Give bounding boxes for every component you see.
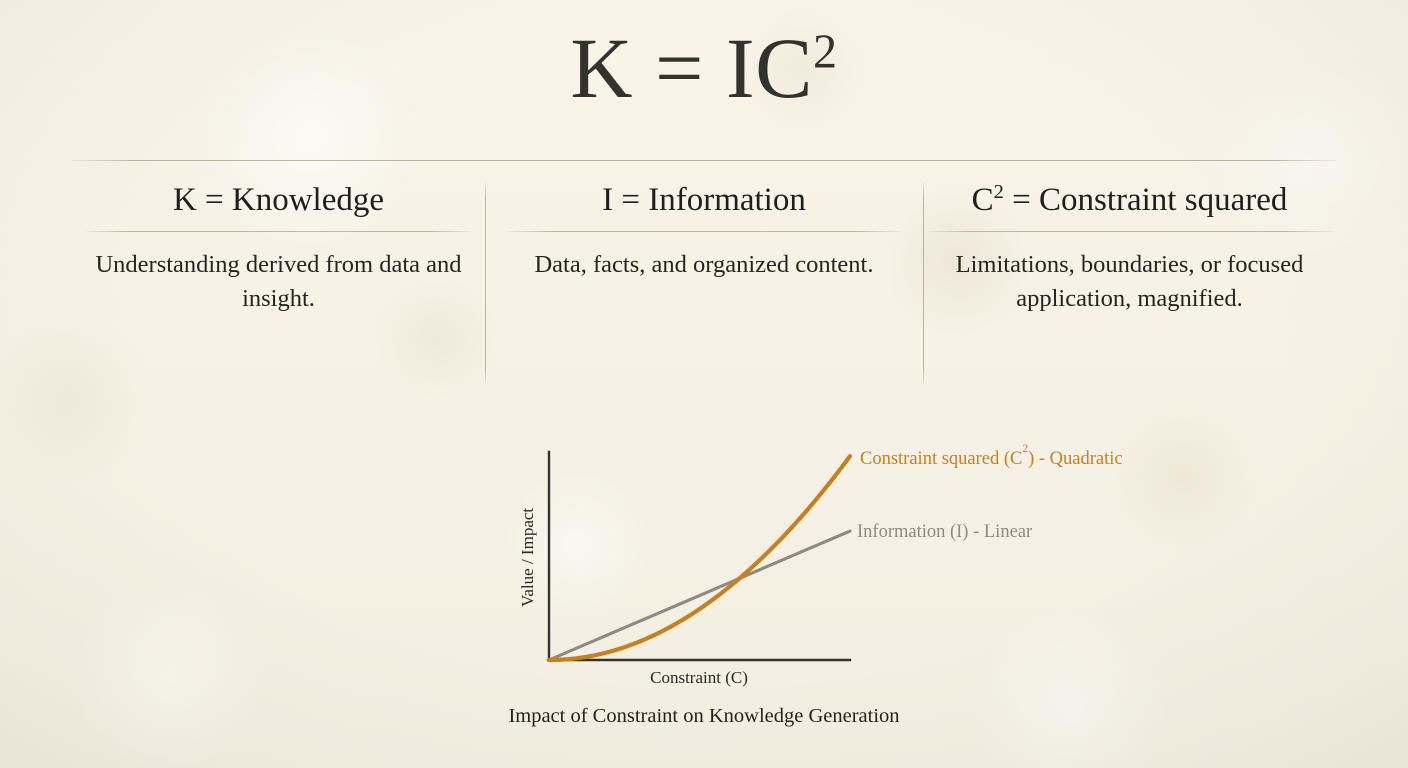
legend-label-constraint-squared: Constraint squared (C2) - Quadratic	[860, 443, 1123, 469]
definition-column-constraint-squared: C2 = Constraint squared Limitations, bou…	[923, 180, 1336, 316]
definition-column-information: I = Information Data, facts, and organiz…	[485, 180, 923, 282]
column-divider-2	[923, 182, 924, 385]
column-rule	[86, 231, 471, 232]
column-title-base: C	[972, 182, 994, 218]
column-description-information: Data, facts, and organized content.	[503, 248, 905, 282]
column-rule	[929, 231, 1331, 232]
legend-quad-rest: ) - Quadratic	[1028, 449, 1123, 469]
column-title-superscript: 2	[994, 181, 1004, 203]
page-title-base: K = IC	[570, 20, 813, 116]
column-rule	[508, 231, 900, 232]
legend-quad-base: Constraint squared (C	[860, 449, 1022, 469]
title-block: K = IC2	[0, 22, 1408, 115]
series-line-information	[549, 531, 850, 660]
legend-label-information: Information (I) - Linear	[857, 522, 1032, 542]
chart-caption: Impact of Constraint on Knowledge Genera…	[0, 705, 1408, 728]
page-title-superscript: 2	[813, 25, 838, 78]
column-description-knowledge: Understanding derived from data and insi…	[82, 248, 475, 316]
header-divider	[72, 160, 1336, 161]
column-description-constraint-squared: Limitations, boundaries, or focused appl…	[927, 248, 1332, 316]
column-title-knowledge: K = Knowledge	[82, 180, 475, 220]
column-title-rest: = Constraint squared	[1004, 182, 1287, 218]
slide-canvas: K = IC2 K = Knowledge Understanding deri…	[0, 0, 1408, 768]
column-divider-1	[485, 182, 486, 385]
page-title: K = IC2	[0, 22, 1408, 115]
definition-columns: K = Knowledge Understanding derived from…	[72, 180, 1336, 316]
x-axis-label: Constraint (C)	[650, 668, 748, 687]
column-title-constraint-squared: C2 = Constraint squared	[927, 180, 1332, 220]
impact-chart: Value / Impact Constraint (C) Constraint…	[0, 430, 1408, 740]
chart-container: Value / Impact Constraint (C) Constraint…	[0, 430, 1408, 740]
y-axis-label: Value / Impact	[518, 508, 537, 607]
definition-column-knowledge: K = Knowledge Understanding derived from…	[72, 180, 485, 316]
series-line-constraint-squared	[549, 456, 850, 660]
column-title-information: I = Information	[503, 180, 905, 220]
